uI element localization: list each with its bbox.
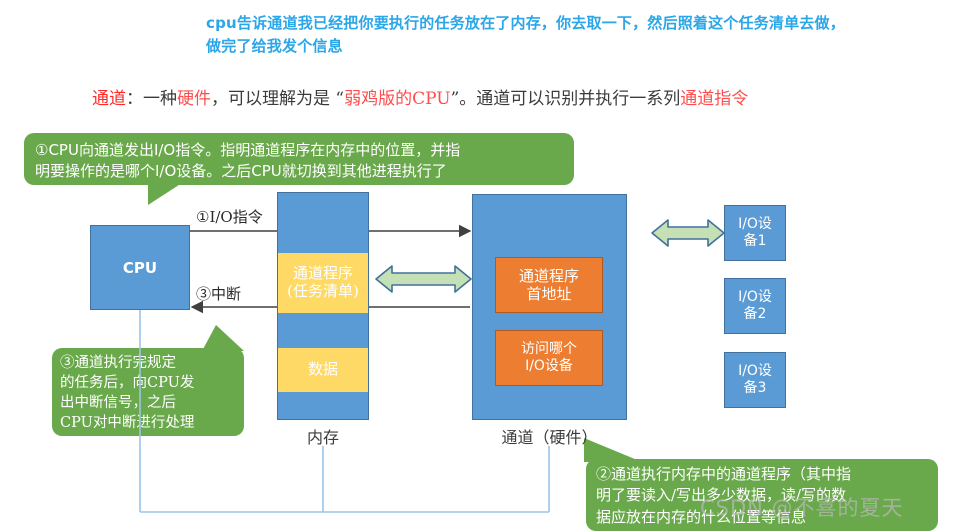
arrow-channel-io1 xyxy=(652,220,724,246)
channel-which-device-line-2: I/O设备 xyxy=(521,358,577,375)
memory-band-data-label: 数据 xyxy=(308,361,338,379)
io-device-1-line-1: I/O设 xyxy=(738,216,772,233)
cpu-box[interactable]: CPU xyxy=(90,225,190,310)
memory-band-program-line-2: (任务清单) xyxy=(287,283,359,301)
cpu-label: CPU xyxy=(123,259,157,277)
memory-column[interactable]: 通道程序 (任务清单) 数据 xyxy=(277,192,369,420)
io-device-2-line-1: I/O设 xyxy=(738,289,772,306)
io-device-1[interactable]: I/O设 备1 xyxy=(724,205,786,261)
io-device-2[interactable]: I/O设 备2 xyxy=(724,278,786,334)
io-device-1-line-2: 备1 xyxy=(738,233,772,250)
io-device-3-line-1: I/O设 xyxy=(738,363,772,380)
io-device-3-line-2: 备3 xyxy=(738,380,772,397)
label-interrupt: ③中断 xyxy=(196,283,241,304)
channel-box[interactable]: 通道程序 首地址 访问哪个 I/O设备 xyxy=(472,194,627,420)
memory-band-channel-program: 通道程序 (任务清单) xyxy=(278,253,368,313)
io-device-3[interactable]: I/O设 备3 xyxy=(724,352,786,408)
channel-caption: 通道（硬件） xyxy=(472,424,627,448)
arrow-memory-channel xyxy=(376,266,471,292)
memory-band-data: 数据 xyxy=(278,348,368,392)
channel-which-io-device: 访问哪个 I/O设备 xyxy=(495,330,603,386)
watermark: CSDN @不喜的夏天 xyxy=(700,492,904,522)
channel-which-device-line-1: 访问哪个 xyxy=(521,341,577,358)
channel-first-address-line-2: 首地址 xyxy=(519,285,579,303)
label-io-command: ①I/O指令 xyxy=(196,206,263,227)
channel-first-address-line-1: 通道程序 xyxy=(519,267,579,285)
memory-band-program-line-1: 通道程序 xyxy=(287,265,359,283)
memory-caption: 内存 xyxy=(277,424,369,448)
channel-program-first-address: 通道程序 首地址 xyxy=(495,257,603,313)
io-device-2-line-2: 备2 xyxy=(738,306,772,323)
